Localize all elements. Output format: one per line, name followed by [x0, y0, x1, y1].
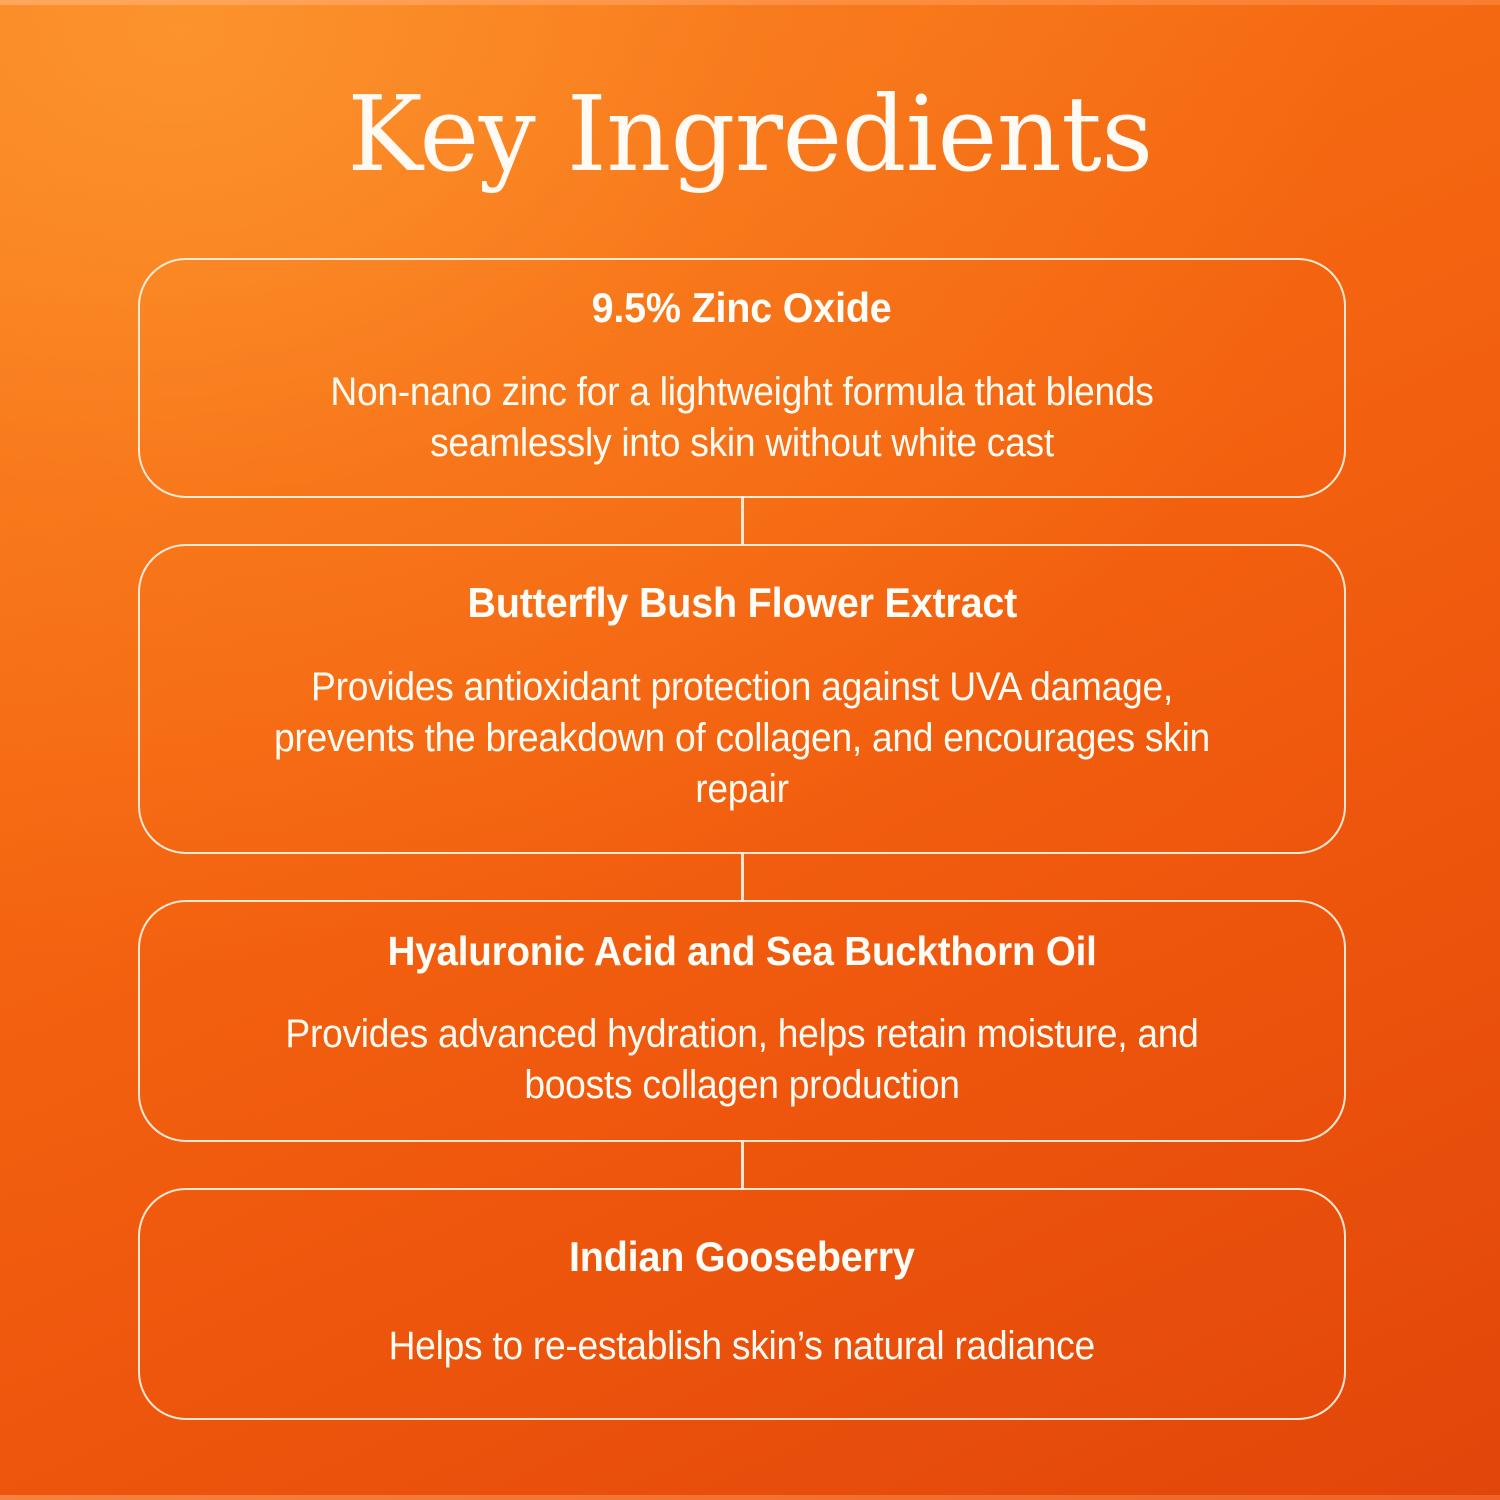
- card-connector-line: [741, 854, 744, 900]
- card-connector-line: [741, 1142, 744, 1188]
- ingredient-card: Indian Gooseberry Helps to re-establish …: [138, 1188, 1346, 1420]
- ingredient-name: Indian Gooseberry: [569, 1232, 915, 1282]
- ingredient-card: Butterfly Bush Flower Extract Provides a…: [138, 544, 1346, 854]
- ingredient-card: Hyaluronic Acid and Sea Buckthorn Oil Pr…: [138, 900, 1346, 1142]
- ingredient-name: 9.5% Zinc Oxide: [592, 283, 892, 333]
- ingredient-name: Butterfly Bush Flower Extract: [467, 578, 1017, 628]
- ingredient-description: Non-nano zinc for a lightweight formula …: [244, 367, 1239, 469]
- page-title: Key Ingredients: [23, 78, 1478, 190]
- card-connector-line: [741, 498, 744, 544]
- key-ingredients-infographic: Key Ingredients 9.5% Zinc Oxide Non-nano…: [0, 0, 1500, 1500]
- ingredient-name: Hyaluronic Acid and Sea Buckthorn Oil: [387, 927, 1096, 975]
- ingredient-description: Provides advanced hydration, helps retai…: [244, 1009, 1239, 1111]
- ingredient-description: Helps to re-establish skin’s natural rad…: [389, 1321, 1095, 1372]
- ingredient-description: Provides antioxidant protection against …: [244, 662, 1239, 816]
- ingredient-card: 9.5% Zinc Oxide Non-nano zinc for a ligh…: [138, 258, 1346, 498]
- ingredient-card-stack: 9.5% Zinc Oxide Non-nano zinc for a ligh…: [138, 258, 1346, 1420]
